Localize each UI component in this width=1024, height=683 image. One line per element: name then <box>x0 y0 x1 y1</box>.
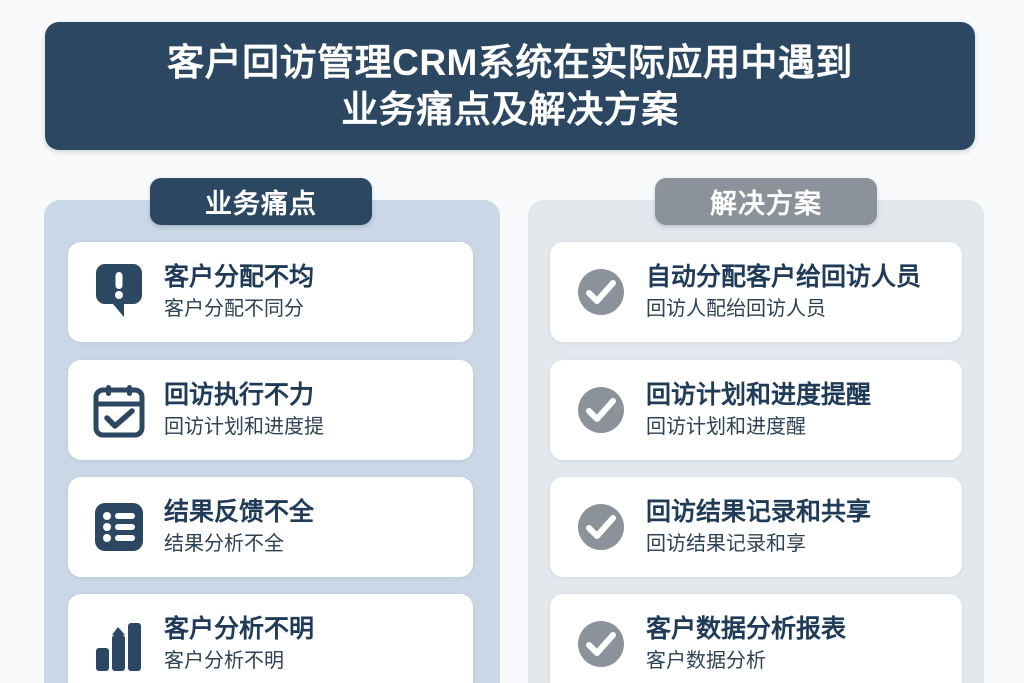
card-title: 客户数据分析报表 <box>646 614 846 644</box>
title-banner: 客户回访管理CRM系统在实际应用中遇到 业务痛点及解决方案 <box>45 22 975 150</box>
calendar-check-icon <box>88 381 150 439</box>
infographic-root: 客户回访管理CRM系统在实际应用中遇到 业务痛点及解决方案 业务痛点 解决方案 … <box>0 0 1024 683</box>
card-subtitle: 回访结果记录和享 <box>646 531 871 557</box>
solutions-header: 解决方案 <box>655 178 877 225</box>
card-subtitle: 客户数据分析 <box>646 648 846 674</box>
pain-point-card[interactable]: 客户分配不均 客户分配不同分 <box>68 242 473 342</box>
card-subtitle: 回访人配绐回访人员 <box>646 296 921 322</box>
card-text: 回访结果记录和共享 回访结果记录和享 <box>646 497 871 557</box>
card-title: 自动分配客户给回访人员 <box>646 262 921 292</box>
card-title: 结果反馈不全 <box>164 497 314 527</box>
pain-point-card[interactable]: 结果反馈不全 结果分析不全 <box>68 477 473 577</box>
card-subtitle: 回访计划和进度提 <box>164 414 324 440</box>
card-text: 客户分析不明 客户分析不明 <box>164 614 314 674</box>
card-subtitle: 回访计划和进度醒 <box>646 414 871 440</box>
card-subtitle: 客户分析不明 <box>164 648 314 674</box>
bar-chart-icon <box>88 615 150 673</box>
card-subtitle: 结果分析不全 <box>164 531 314 557</box>
solution-card[interactable]: 回访计划和进度提醒 回访计划和进度醒 <box>550 360 962 460</box>
card-text: 结果反馈不全 结果分析不全 <box>164 497 314 557</box>
title-line-1: 客户回访管理CRM系统在实际应用中遇到 <box>167 39 853 86</box>
card-subtitle: 客户分配不同分 <box>164 296 314 322</box>
card-text: 客户分配不均 客户分配不同分 <box>164 262 314 322</box>
card-title: 客户分析不明 <box>164 614 314 644</box>
pain-point-card[interactable]: 客户分析不明 客户分析不明 <box>68 594 473 683</box>
title-line-2: 业务痛点及解决方案 <box>341 86 679 133</box>
check-circle-icon <box>570 266 632 318</box>
alert-bubble-icon <box>88 263 150 321</box>
card-text: 回访计划和进度提醒 回访计划和进度醒 <box>646 380 871 440</box>
pain-points-header: 业务痛点 <box>150 178 372 225</box>
card-title: 回访结果记录和共享 <box>646 497 871 527</box>
card-text: 客户数据分析报表 客户数据分析 <box>646 614 846 674</box>
check-circle-icon <box>570 501 632 553</box>
card-text: 回访执行不力 回访计划和进度提 <box>164 380 324 440</box>
solution-card[interactable]: 自动分配客户给回访人员 回访人配绐回访人员 <box>550 242 962 342</box>
card-title: 回访计划和进度提醒 <box>646 380 871 410</box>
list-icon <box>88 498 150 556</box>
check-circle-icon <box>570 618 632 670</box>
solution-card[interactable]: 客户数据分析报表 客户数据分析 <box>550 594 962 683</box>
pain-points-header-label: 业务痛点 <box>205 182 317 221</box>
card-text: 自动分配客户给回访人员 回访人配绐回访人员 <box>646 262 921 322</box>
solution-card[interactable]: 回访结果记录和共享 回访结果记录和享 <box>550 477 962 577</box>
solutions-header-label: 解决方案 <box>710 182 822 221</box>
check-circle-icon <box>570 384 632 436</box>
card-title: 回访执行不力 <box>164 380 324 410</box>
card-title: 客户分配不均 <box>164 262 314 292</box>
pain-point-card[interactable]: 回访执行不力 回访计划和进度提 <box>68 360 473 460</box>
